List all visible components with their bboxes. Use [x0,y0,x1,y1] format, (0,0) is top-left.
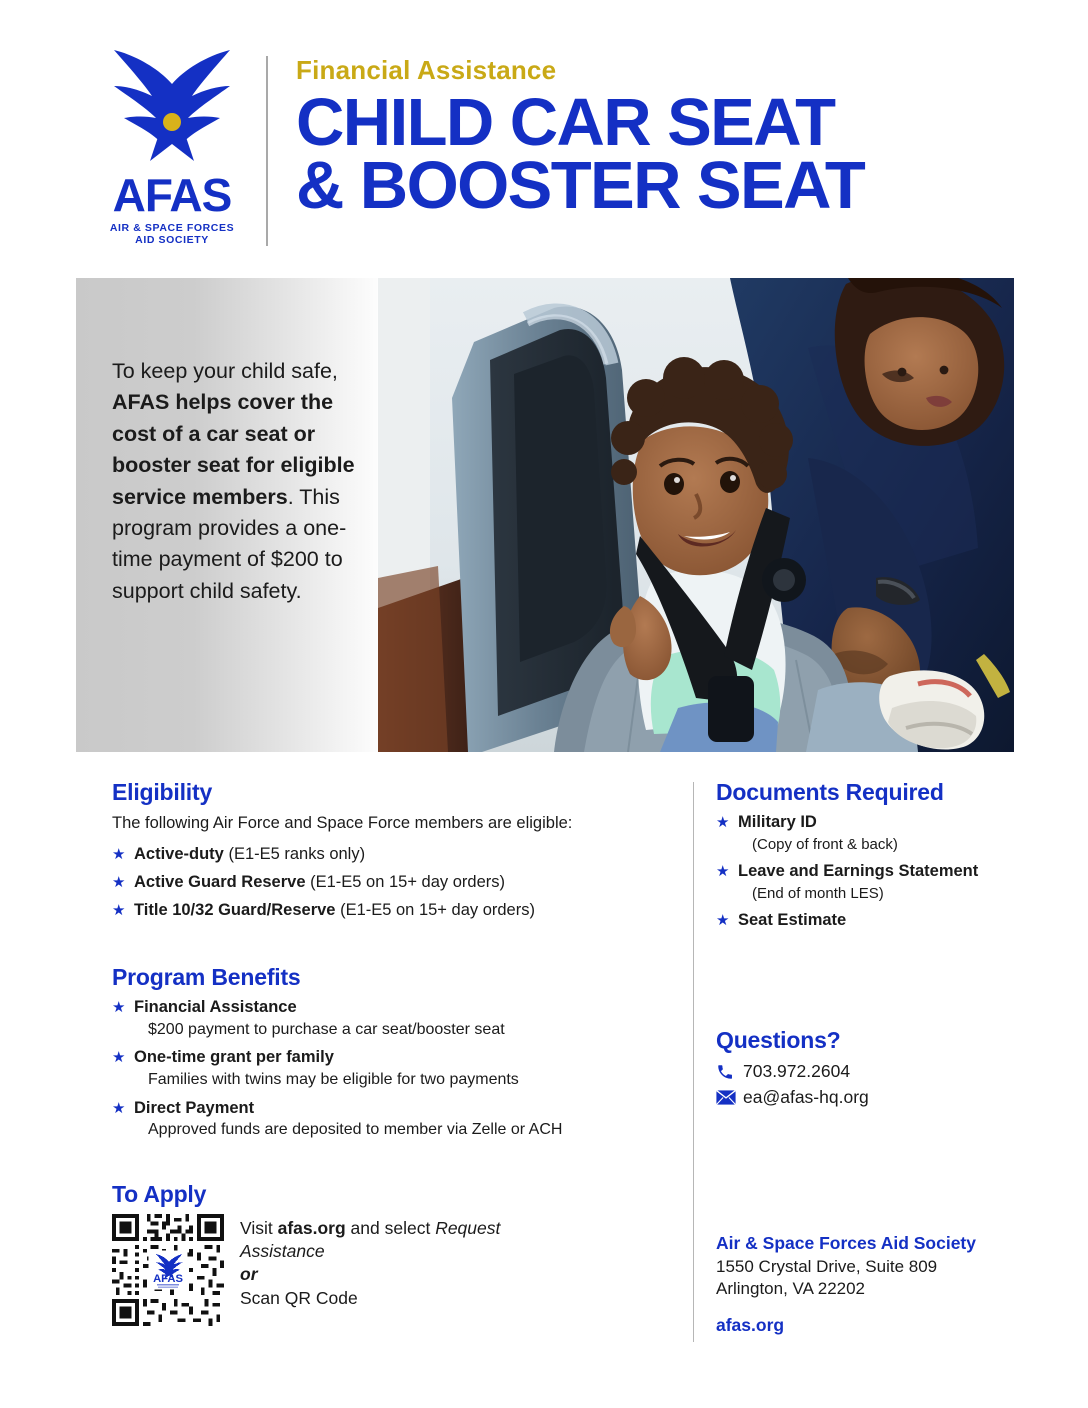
star-bullet-icon: ★ [716,862,729,882]
footer-website-link[interactable]: afas.org [716,1315,1036,1336]
address-line-2: Arlington, VA 22202 [716,1278,1036,1300]
star-bullet-icon: ★ [716,911,729,931]
questions-heading: Questions? [716,1028,1026,1053]
left-column: Eligibility The following Air Force and … [112,780,672,1148]
apply-visit-suffix: and select [346,1218,436,1238]
benefit-item-sub: Families with twins may be eligible for … [148,1070,672,1091]
hero-paragraph: To keep your child safe, AFAS helps cove… [112,356,360,607]
email-address[interactable]: ea@afas-hq.org [743,1086,869,1110]
phone-number[interactable]: 703.972.2604 [743,1060,850,1084]
organization-name: Air & Space Forces Aid Society [716,1232,1036,1255]
benefits-heading: Program Benefits [112,965,672,990]
eligibility-item-lead: Title 10/32 Guard/Reserve [134,901,335,919]
eligibility-heading: Eligibility [112,780,672,805]
columns-divider [693,782,694,1342]
section-spacer [112,929,672,965]
afas-wings-star-icon [88,48,256,174]
apply-scan: Scan QR Code [240,1288,358,1308]
eligibility-list: ★ Active-duty (E1-E5 ranks only) ★ Activ… [112,844,672,922]
eligibility-item-rest: (E1-E5 on 15+ day orders) [306,873,505,891]
star-bullet-icon: ★ [716,813,729,833]
eligibility-item-lead: Active Guard Reserve [134,873,306,891]
to-apply-section: To Apply [112,1182,512,1326]
benefit-item-sub: Approved funds are deposited to member v… [148,1120,672,1141]
page-title-line-2: & BOOSTER SEAT [296,153,1056,218]
logo-wordmark: AFAS [88,172,256,218]
logo-subtitle: AIR & SPACE FORCES AID SOCIETY [88,222,256,247]
apply-visit-prefix: Visit [240,1218,278,1238]
documents-list: ★ Military ID (Copy of front & back) ★ L… [716,812,1026,931]
document-item-lead: Leave and Earnings Statement [738,862,978,880]
header-titles: Financial Assistance CHILD CAR SEAT & BO… [296,56,1056,218]
list-item: ★ Active-duty (E1-E5 ranks only) [112,844,672,865]
star-bullet-icon: ★ [112,901,125,921]
header-vertical-divider [266,56,268,246]
star-bullet-icon: ★ [112,1048,125,1068]
list-item: ★ Financial Assistance $200 payment to p… [112,997,672,1040]
benefit-item-lead: Financial Assistance [134,998,297,1016]
document-item-lead: Military ID [738,813,817,831]
eligibility-item-rest: (E1-E5 on 15+ day orders) [335,901,534,919]
list-item: ★ Active Guard Reserve (E1-E5 on 15+ day… [112,872,672,893]
apply-site-link[interactable]: afas.org [278,1218,346,1238]
benefit-item-lead: Direct Payment [134,1099,254,1117]
afas-logo: AFAS AIR & SPACE FORCES AID SOCIETY [88,48,256,247]
footer-contact-block: Air & Space Forces Aid Society 1550 Crys… [716,1232,1036,1336]
star-bullet-icon: ★ [112,1099,125,1119]
benefit-item-lead: One-time grant per family [134,1048,334,1066]
apply-or: or [240,1263,512,1286]
hero-photo [378,278,1014,752]
apply-instructions: Visit afas.org and select Request Assist… [240,1214,512,1309]
to-apply-heading: To Apply [112,1182,512,1207]
email-row[interactable]: ea@afas-hq.org [716,1086,1026,1110]
benefit-item-sub: $200 payment to purchase a car seat/boos… [148,1020,672,1041]
list-item: ★ Seat Estimate [716,910,1026,931]
hero-paragraph-part1: To keep your child safe, [112,359,338,383]
page-header: AFAS AIR & SPACE FORCES AID SOCIETY Fina… [0,0,1088,262]
eligibility-item-rest: (E1-E5 ranks only) [224,845,365,863]
page-title-line-1: CHILD CAR SEAT [296,90,1056,155]
eligibility-item-lead: Active-duty [134,845,224,863]
list-item: ★ Leave and Earnings Statement (End of m… [716,861,1026,903]
address-line-1: 1550 Crystal Drive, Suite 809 [716,1256,1036,1278]
phone-row[interactable]: 703.972.2604 [716,1060,1026,1084]
documents-heading: Documents Required [716,780,1026,805]
document-item-sub: (Copy of front & back) [752,835,1026,855]
list-item: ★ Military ID (Copy of front & back) [716,812,1026,854]
star-bullet-icon: ★ [112,998,125,1018]
document-item-lead: Seat Estimate [738,911,846,929]
list-item: ★ One-time grant per family Families wit… [112,1047,672,1090]
questions-section: Questions? 703.972.2604 ea@afas-hq.org [716,1028,1026,1110]
star-bullet-icon: ★ [112,873,125,893]
envelope-icon [716,1090,738,1105]
right-column: Documents Required ★ Military ID (Copy o… [716,780,1026,1109]
qr-code[interactable]: AFAS [112,1214,224,1326]
star-bullet-icon: ★ [112,845,125,865]
benefits-list: ★ Financial Assistance $200 payment to p… [112,997,672,1141]
header-kicker: Financial Assistance [296,56,1056,86]
list-item: ★ Title 10/32 Guard/Reserve (E1-E5 on 15… [112,900,672,921]
car-seat-photo-illustration [378,278,1014,752]
phone-icon [716,1063,738,1081]
document-item-sub: (End of month LES) [752,884,1026,904]
list-item: ★ Direct Payment Approved funds are depo… [112,1098,672,1141]
qr-center-label: AFAS [153,1273,183,1285]
hero-section: To keep your child safe, AFAS helps cove… [76,278,1014,752]
eligibility-intro: The following Air Force and Space Force … [112,812,672,834]
